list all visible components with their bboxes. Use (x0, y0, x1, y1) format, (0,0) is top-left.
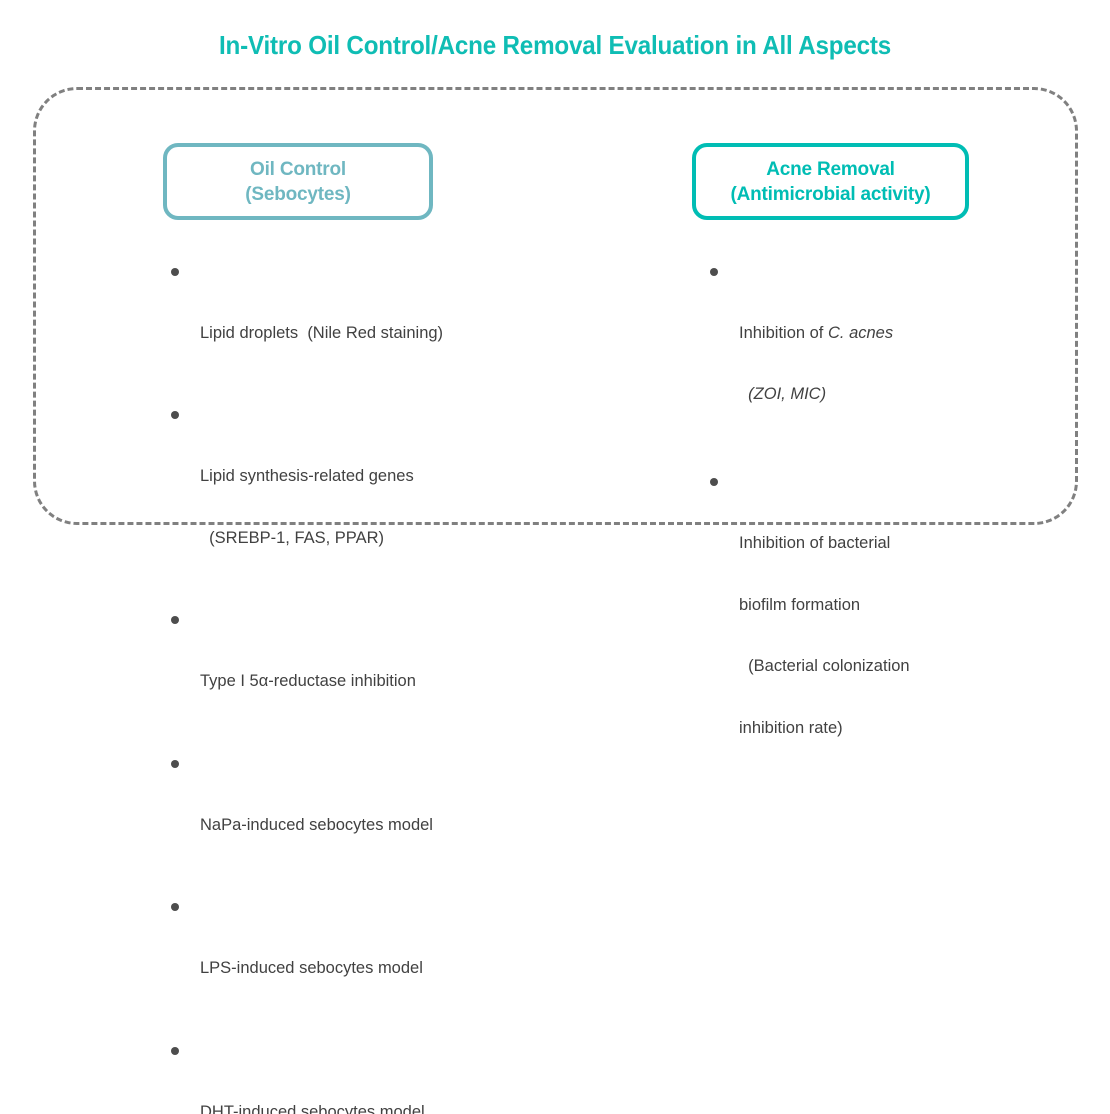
list-item-line-1: DHT-induced sebocytes model (200, 1102, 503, 1114)
list-item-line-1: Inhibition of bacterial (739, 533, 1022, 554)
list-item-line-1: LPS-induced sebocytes model (200, 958, 503, 979)
list-item-line-1-italic: C. acnes (828, 324, 893, 342)
list-item-line-1: NaPa-induced sebocytes model (200, 815, 503, 836)
bullet-dot-icon (171, 1047, 179, 1055)
header-line-2: (Antimicrobial activity) (730, 182, 930, 207)
bullet-dot-icon (171, 903, 179, 911)
column-oil-control: Oil Control (Sebocytes) Lipid droplets (… (163, 143, 493, 220)
column-acne-removal: Acne Removal (Antimicrobial activity) In… (692, 143, 1022, 220)
list-item-line-4: inhibition rate) (739, 718, 1022, 739)
list-item-line-1: Lipid droplets (Nile Red staining) (200, 323, 503, 344)
list-item-line-2: biofilm formation (739, 595, 1022, 616)
list-item: LPS-induced sebocytes model (163, 897, 503, 1020)
bullet-dot-icon (710, 268, 718, 276)
list-item-line-2-italic: (ZOI, MIC) (739, 385, 826, 403)
list-item: DHT-induced sebocytes model (163, 1040, 503, 1114)
header-box-acne-removal-text: Acne Removal (Antimicrobial activity) (730, 157, 930, 207)
bullet-list-acne-removal: Inhibition of C. acnes (ZOI, MIC) Inhibi… (702, 261, 1022, 805)
header-line-2: (Sebocytes) (245, 182, 351, 207)
header-box-oil-control[interactable]: Oil Control (Sebocytes) (163, 143, 433, 220)
list-item: Type I 5α-reductase inhibition (163, 610, 503, 733)
list-item: Inhibition of C. acnes (ZOI, MIC) (702, 261, 1022, 446)
list-item-line-2: (SREBP-1, FAS, PPAR) (200, 528, 503, 549)
list-item: Lipid droplets (Nile Red staining) (163, 261, 503, 384)
bullet-dot-icon (171, 616, 179, 624)
list-item: NaPa-induced sebocytes model (163, 753, 503, 876)
list-item-line-2: (ZOI, MIC) (739, 384, 1022, 405)
bullet-dot-icon (171, 760, 179, 768)
header-box-acne-removal[interactable]: Acne Removal (Antimicrobial activity) (692, 143, 969, 220)
bullet-dot-icon (710, 478, 718, 486)
list-item-line-1-plain: Inhibition of (739, 324, 828, 342)
list-item: Inhibition of bacterial biofilm formatio… (702, 472, 1022, 780)
header-box-oil-control-text: Oil Control (Sebocytes) (245, 157, 351, 207)
bullet-dot-icon (171, 268, 179, 276)
list-item-line-1: Lipid synthesis-related genes (200, 466, 503, 487)
list-item-line-3: (Bacterial colonization (739, 656, 1022, 677)
bullet-list-oil-control: Lipid droplets (Nile Red staining) Lipid… (163, 261, 503, 1114)
page-title: In-Vitro Oil Control/Acne Removal Evalua… (39, 30, 1071, 61)
list-item-line-1: Inhibition of C. acnes (739, 323, 1022, 344)
bullet-dot-icon (171, 411, 179, 419)
header-line-1: Oil Control (245, 157, 351, 182)
list-item-line-1: Type I 5α-reductase inhibition (200, 671, 503, 692)
header-line-1: Acne Removal (730, 157, 930, 182)
list-item: Lipid synthesis-related genes (SREBP-1, … (163, 405, 503, 590)
